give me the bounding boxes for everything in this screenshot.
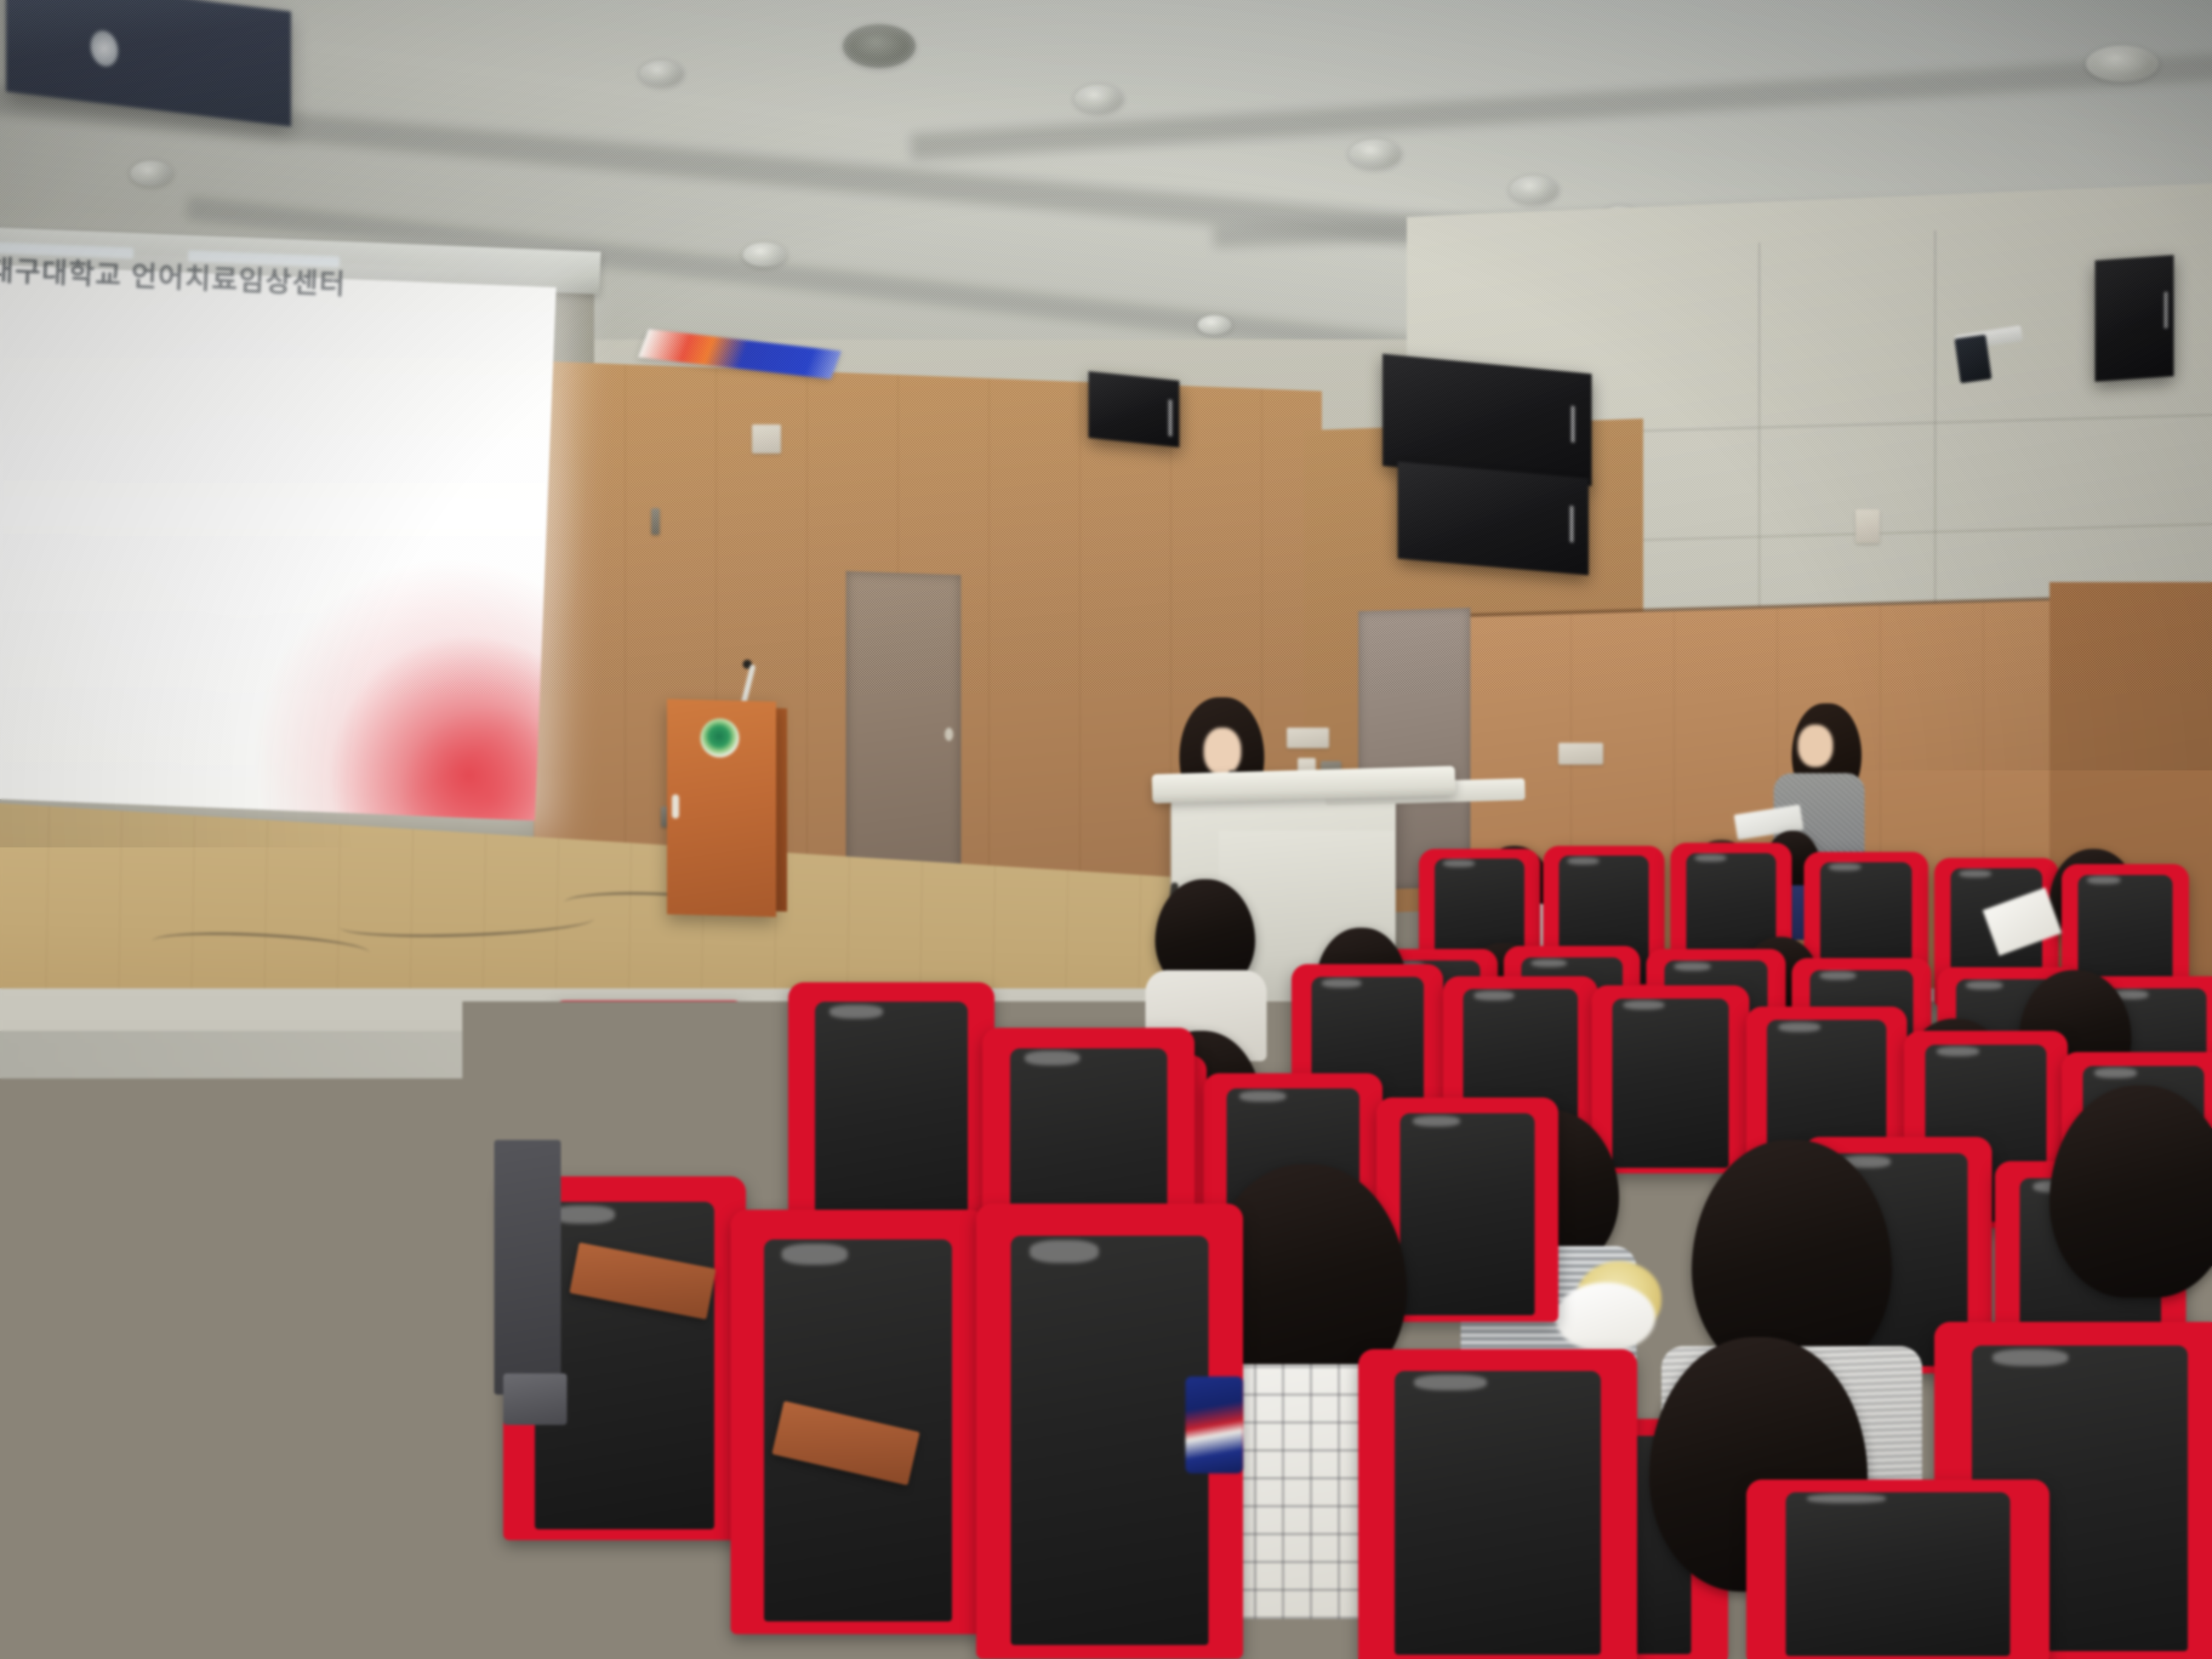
speaker-right-icon	[2095, 255, 2174, 381]
stage-left-door[interactable]	[846, 571, 961, 897]
seat[interactable]	[1358, 1349, 1637, 1659]
wall-seam	[1934, 230, 1936, 618]
downlight-icon	[743, 243, 786, 267]
downlight-icon	[640, 61, 683, 86]
downlight-icon	[843, 24, 916, 68]
napkin	[1555, 1282, 1655, 1352]
security-camera-icon	[1954, 335, 1992, 384]
seat-side-panel	[494, 1140, 561, 1395]
downlight-icon	[1349, 139, 1401, 169]
speaker-left-icon	[1088, 371, 1179, 447]
floor-fixture	[115, 1598, 218, 1655]
seat-base-mount	[503, 1373, 567, 1425]
projection-screen	[0, 265, 556, 821]
wall-plate	[1287, 728, 1329, 748]
wall-seam	[1758, 243, 1760, 618]
projection-banner-text: 대구대학교 언어치료임상센터	[0, 248, 347, 303]
downlight-icon	[1510, 176, 1558, 204]
wall-plate	[752, 424, 781, 454]
speaker-main-bottom-icon	[1398, 461, 1589, 575]
wall-outlet	[651, 508, 660, 535]
university-crest-icon	[700, 719, 739, 757]
seat[interactable]	[1746, 1480, 2049, 1659]
wall-plate	[1558, 743, 1603, 765]
seat[interactable]	[1592, 985, 1749, 1173]
downlight-icon	[2086, 45, 2159, 82]
wall-plate	[1855, 509, 1880, 543]
downlight-icon	[130, 161, 173, 186]
lectern-handle	[672, 794, 679, 819]
auditorium-photo: 대구대학교 언어치료임상센터	[0, 0, 2212, 1659]
downlight-icon	[1074, 85, 1123, 113]
downlight-icon	[1198, 315, 1232, 335]
standing-attendant-face	[1798, 725, 1833, 767]
presenter-face	[1204, 728, 1241, 775]
door-knob-icon[interactable]	[945, 728, 953, 741]
pepsi-can	[1185, 1376, 1243, 1473]
